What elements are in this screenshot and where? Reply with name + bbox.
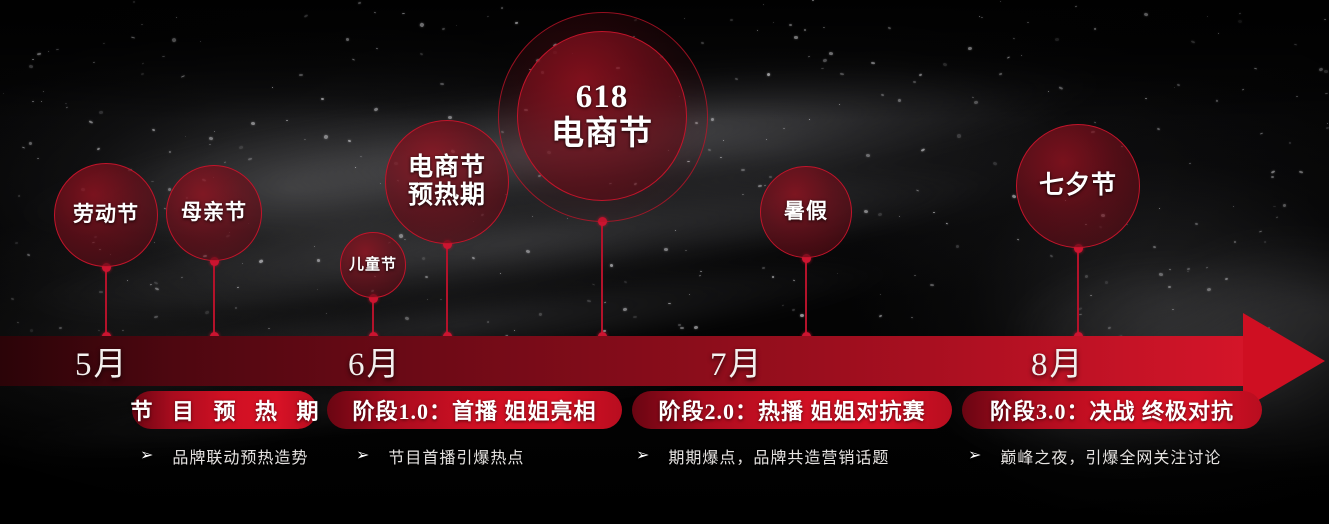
month-8-label: 8月 xyxy=(1031,337,1085,385)
stem-618-festival xyxy=(601,221,603,337)
stem-mothers-day xyxy=(213,261,215,337)
bullet-phase-3: ➢巅峰之夜，引爆全网关注讨论 xyxy=(968,444,1221,468)
stem-qixi-festival xyxy=(1077,248,1079,337)
bullet-text: 节目首播引爆热点 xyxy=(388,444,524,468)
pill-phase-warmup[interactable]: 节 目 预 热 期 xyxy=(132,391,317,429)
bubble-label: 母亲节 xyxy=(177,201,251,225)
bubble-label: 儿童节 xyxy=(345,257,401,274)
bullet-arrow-icon: ➢ xyxy=(356,448,370,464)
bubble-qixi-festival[interactable]: 七夕节 xyxy=(1016,124,1140,248)
bubble-label: 劳动节 xyxy=(69,203,143,227)
bullet-phase-warmup: ➢品牌联动预热造势 xyxy=(140,444,308,468)
pill-phase-1[interactable]: 阶段1.0：首播 姐姐亮相 xyxy=(327,391,622,429)
bubble-labor-day[interactable]: 劳动节 xyxy=(54,163,158,267)
bullet-phase-1: ➢节目首播引爆热点 xyxy=(356,444,524,468)
bubble-ecom-warmup[interactable]: 电商节预热期 xyxy=(385,120,509,244)
bullet-arrow-icon: ➢ xyxy=(968,448,982,464)
bullet-phase-2: ➢期期爆点，品牌共造营销话题 xyxy=(636,444,889,468)
bubble-label: 618电商节 xyxy=(547,79,657,153)
bubble-618-festival[interactable]: 618电商节 xyxy=(517,31,687,201)
month-6-label: 6月 xyxy=(348,337,402,385)
bubble-childrens-day[interactable]: 儿童节 xyxy=(340,232,406,298)
pill-phase-3[interactable]: 阶段3.0：决战 终极对抗 xyxy=(962,391,1262,429)
bubble-label: 七夕节 xyxy=(1035,172,1121,200)
bullet-text: 品牌联动预热造势 xyxy=(172,444,308,468)
bubble-mothers-day[interactable]: 母亲节 xyxy=(166,165,262,261)
timeline-infographic: 5月6月7月8月 劳动节母亲节儿童节电商节预热期618电商节暑假七夕节 节 目 … xyxy=(0,0,1329,524)
bubble-summer-vacation[interactable]: 暑假 xyxy=(760,166,852,258)
stem-childrens-day xyxy=(372,298,374,337)
stem-labor-day xyxy=(105,267,107,337)
bubble-label: 暑假 xyxy=(780,200,832,224)
month-7-label: 7月 xyxy=(710,337,764,385)
bullet-text: 期期爆点，品牌共造营销话题 xyxy=(668,444,889,468)
stem-ecom-warmup xyxy=(446,244,448,337)
pill-phase-2[interactable]: 阶段2.0：热播 姐姐对抗赛 xyxy=(632,391,952,429)
bullet-text: 巅峰之夜，引爆全网关注讨论 xyxy=(1000,444,1221,468)
month-5-label: 5月 xyxy=(75,337,129,385)
bullet-arrow-icon: ➢ xyxy=(140,448,154,464)
bubble-label: 电商节预热期 xyxy=(404,154,490,210)
bullet-arrow-icon: ➢ xyxy=(636,448,650,464)
stem-summer-vacation xyxy=(805,258,807,337)
